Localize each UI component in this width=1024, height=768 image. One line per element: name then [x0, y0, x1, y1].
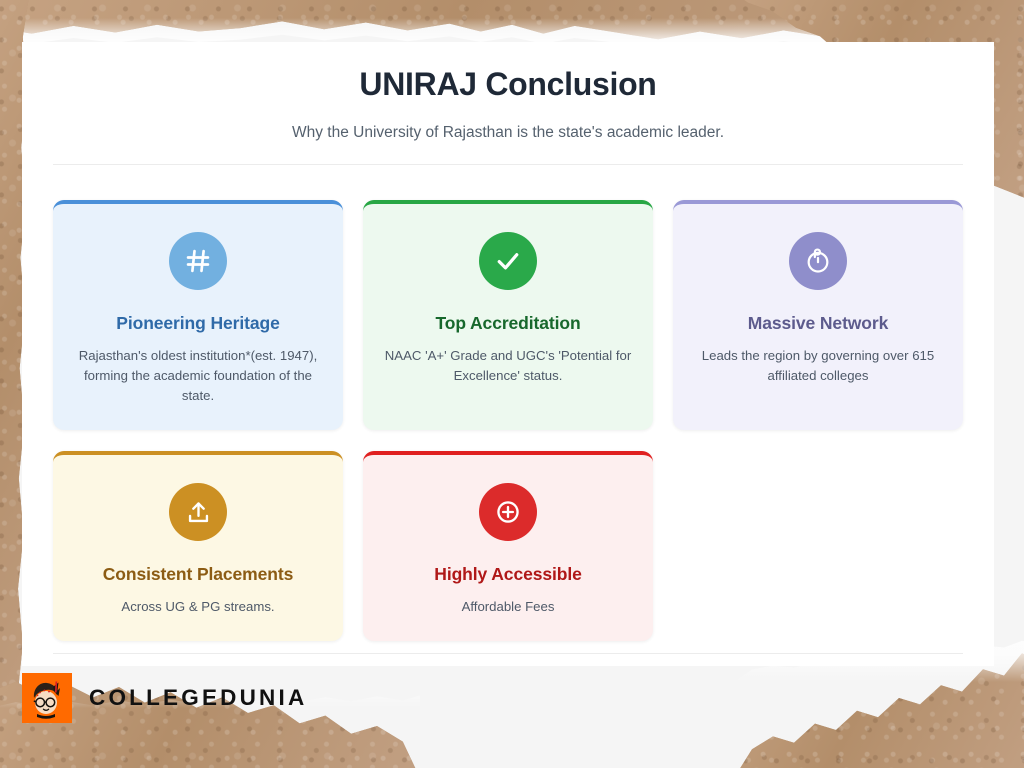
upload-icon: [185, 499, 212, 526]
plus-circle-icon: [494, 498, 522, 526]
card-highly-accessible[interactable]: Highly Accessible Affordable Fees: [363, 451, 653, 641]
footer-divider: [53, 653, 963, 654]
slide-canvas: UNIRAJ Conclusion Why the University of …: [0, 0, 1024, 768]
upload-icon-wrap: [169, 483, 227, 541]
hash-icon: [184, 247, 212, 275]
card-pioneering-heritage[interactable]: Pioneering Heritage Rajasthan's oldest i…: [53, 200, 343, 430]
collegedunia-mascot-icon: [22, 673, 72, 723]
brand-bar: COLLEGEDUNIA: [22, 673, 307, 723]
check-circle-icon-wrap: [479, 232, 537, 290]
card-description: Leads the region by governing over 615 a…: [693, 346, 943, 386]
card-description: Affordable Fees: [383, 597, 633, 617]
card-title: Massive Network: [693, 313, 943, 334]
card-top-accreditation[interactable]: Top Accreditation NAAC 'A+' Grade and UG…: [363, 200, 653, 430]
hash-icon-wrap: [169, 232, 227, 290]
card-title: Pioneering Heritage: [73, 313, 323, 334]
plus-circle-icon-wrap: [479, 483, 537, 541]
card-description: NAAC 'A+' Grade and UGC's 'Potential for…: [383, 346, 633, 386]
badge-circle-icon: [804, 247, 832, 275]
check-circle-icon: [493, 246, 523, 276]
card-title: Consistent Placements: [73, 564, 323, 585]
badge-circle-icon-wrap: [789, 232, 847, 290]
card-consistent-placements[interactable]: Consistent Placements Across UG & PG str…: [53, 451, 343, 641]
page-title: UNIRAJ Conclusion: [22, 42, 994, 103]
card-title: Highly Accessible: [383, 564, 633, 585]
card-title: Top Accreditation: [383, 313, 633, 334]
brand-name: COLLEGEDUNIA: [89, 685, 307, 711]
page-subtitle: Why the University of Rajasthan is the s…: [22, 124, 994, 142]
content-sheet: UNIRAJ Conclusion Why the University of …: [22, 42, 994, 666]
card-description: Across UG & PG streams.: [73, 597, 323, 617]
feature-card-grid: Pioneering Heritage Rajasthan's oldest i…: [22, 165, 994, 641]
card-description: Rajasthan's oldest institution*(est. 194…: [73, 346, 323, 406]
card-massive-network[interactable]: Massive Network Leads the region by gove…: [673, 200, 963, 430]
